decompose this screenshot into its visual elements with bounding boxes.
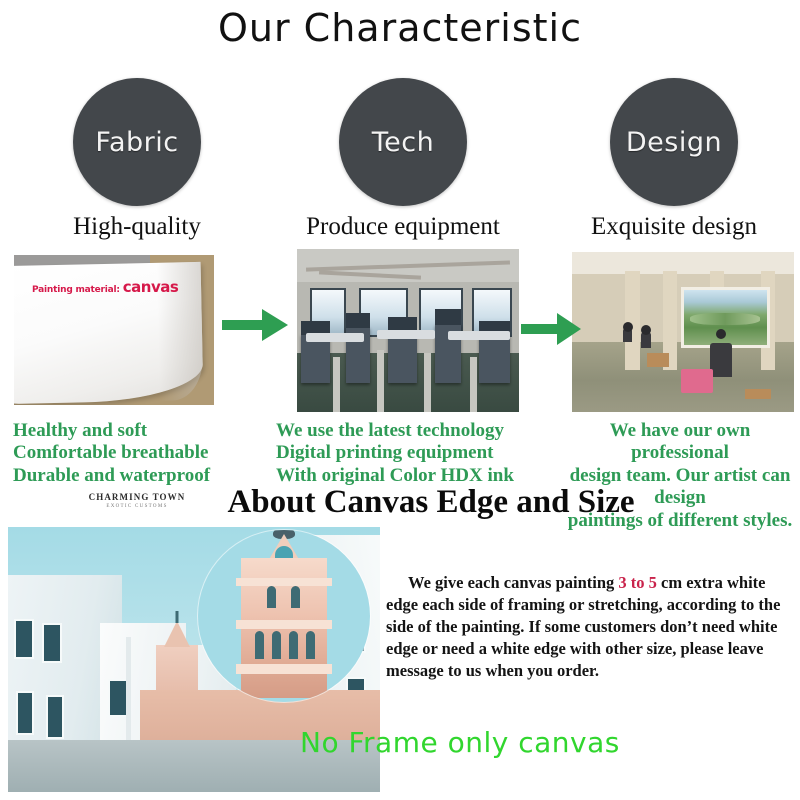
art-studio-photo (572, 252, 794, 412)
badge-circle-fabric: Fabric (73, 78, 201, 206)
description-line: Digital printing equipment (276, 442, 548, 464)
description-line: We use the latest technology (276, 420, 548, 442)
printing-factory-photo (297, 249, 519, 412)
badge-circle-tech: Tech (339, 78, 467, 206)
badge-label: Tech (372, 127, 434, 158)
brand-logo: CHARMING TOWN EXOTIC CUSTOMS (78, 492, 196, 509)
description-line: We have our own professional (560, 420, 800, 465)
feature-caption-tech: Produce equipment (278, 213, 528, 241)
about-heading-row: CHARMING TOWN EXOTIC CUSTOMS About Canva… (0, 484, 800, 526)
feature-column-fabric: Fabric High-quality (8, 78, 266, 241)
feature-description-tech: We use the latest technology Digital pri… (276, 420, 548, 487)
badge-label: Fabric (95, 127, 178, 158)
paragraph-highlight: 3 to 5 (618, 573, 657, 592)
edge-size-paragraph: We give each canvas painting 3 to 5 cm e… (386, 572, 794, 682)
feature-description-fabric: Healthy and soft Comfortable breathable … (13, 420, 275, 487)
badge-label: Design (626, 127, 722, 158)
feature-column-tech: Tech Produce equipment (278, 78, 528, 241)
feature-caption-fabric: High-quality (8, 213, 266, 241)
canvas-photo-overlay-text: Painting material: canvas (32, 278, 178, 296)
arrow-tech-to-design (521, 309, 581, 349)
about-section-title: About Canvas Edge and Size (196, 484, 666, 521)
no-frame-note: No Frame only canvas (300, 726, 620, 759)
brand-name: CHARMING TOWN (78, 492, 196, 502)
canvas-material-photo: Painting material: canvas (14, 255, 214, 405)
bell-tower-magnifier (198, 530, 370, 702)
description-line: Comfortable breathable (13, 442, 275, 464)
canvas-overlay-big: canvas (123, 278, 179, 296)
paragraph-part-1: We give each canvas painting (408, 573, 618, 592)
description-line: Healthy and soft (13, 420, 275, 442)
feature-caption-design: Exquisite design (552, 213, 796, 241)
page-title: Our Characteristic (0, 6, 800, 50)
arrow-fabric-to-tech (222, 305, 288, 345)
canvas-overlay-small: Painting material: (32, 285, 120, 295)
badge-circle-design: Design (610, 78, 738, 206)
feature-column-design: Design Exquisite design (552, 78, 796, 241)
brand-tagline: EXOTIC CUSTOMS (78, 504, 196, 509)
